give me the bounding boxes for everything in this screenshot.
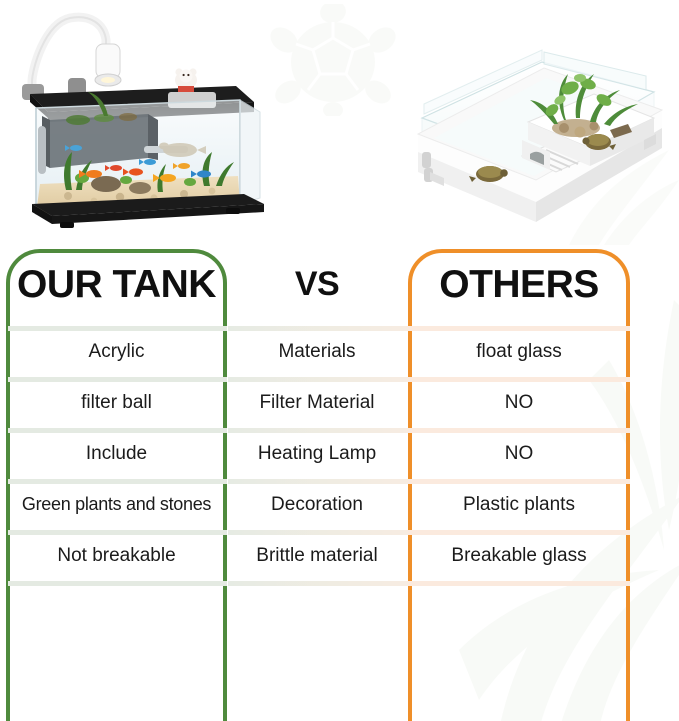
feature-label-filter-material: Filter Material [228,377,406,428]
product-photo-row [0,0,679,240]
others-heading: OTHERS [408,243,630,326]
comparison-table: OUR TANK Acrylic filter ball Include Gre… [0,243,679,653]
our-tank-value-materials: Acrylic [6,326,227,377]
others-value-decoration: Plastic plants [408,479,630,530]
our-tank-photo [8,8,276,233]
comparison-infographic: OUR TANK Acrylic filter ball Include Gre… [0,0,679,721]
others-value-heating-lamp: NO [408,428,630,479]
our-tank-value-brittle-material: Not breakable [6,530,227,581]
our-tank-column: OUR TANK Acrylic filter ball Include Gre… [6,243,227,581]
our-tank-value-heating-lamp: Include [6,428,227,479]
our-tank-value-decoration: Green plants and stones [6,479,227,530]
feature-label-heating-lamp: Heating Lamp [228,428,406,479]
feature-label-brittle-material: Brittle material [228,530,406,581]
others-value-materials: float glass [408,326,630,377]
others-tank-photo [404,48,676,238]
our-tank-heading: OUR TANK [6,243,227,326]
vs-heading: VS [228,243,406,326]
feature-column: VS Materials Filter Material Heating Lam… [228,243,406,581]
our-tank-value-filter-material: filter ball [6,377,227,428]
others-value-brittle-material: Breakable glass [408,530,630,581]
others-value-filter-material: NO [408,377,630,428]
row-separator [228,581,408,586]
others-column: OTHERS float glass NO NO Plastic plants … [408,243,630,581]
feature-label-decoration: Decoration [228,479,406,530]
feature-label-materials: Materials [228,326,406,377]
